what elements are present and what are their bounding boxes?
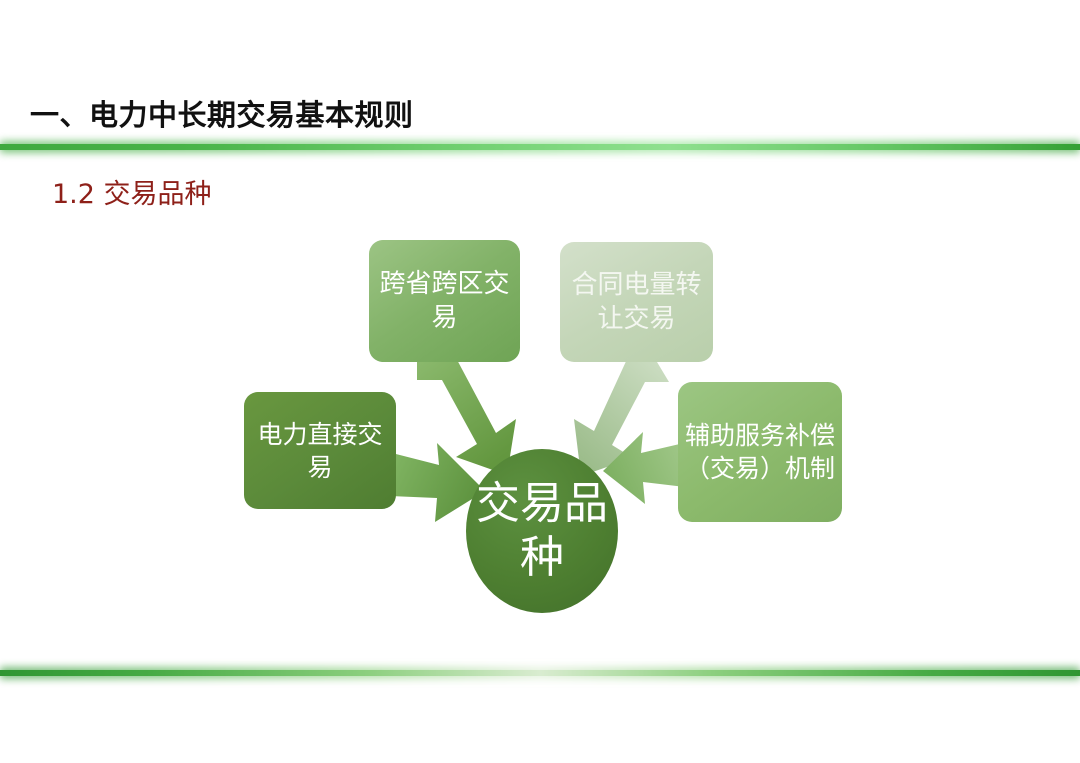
section-subtitle: 1.2 交易品种 <box>52 172 212 211</box>
node-center-label: 交易品种 <box>466 477 618 584</box>
node-center-trade-variety[interactable]: 交易品种 <box>466 449 618 613</box>
page-title: 一、电力中长期交易基本规则 <box>30 92 414 134</box>
divider-top-core <box>0 144 1080 150</box>
divider-top-glow <box>0 141 1080 153</box>
node-cross-region-label: 跨省跨区交易 <box>375 267 514 336</box>
trade-variety-diagram: 跨省跨区交易 合同电量转让交易 电力直接交易 辅助服务补偿（交易）机制 交易品种 <box>0 210 1080 630</box>
arrow-cross-region-to-center <box>417 356 516 475</box>
node-aux-service-label: 辅助服务补偿（交易）机制 <box>684 419 836 485</box>
divider-bottom <box>0 660 1080 686</box>
divider-bottom-glow <box>0 667 1080 679</box>
slide-canvas: 一、电力中长期交易基本规则 1.2 交易品种 <box>0 0 1080 763</box>
node-cross-region[interactable]: 跨省跨区交易 <box>369 240 520 362</box>
node-direct-trade-label: 电力直接交易 <box>250 418 390 484</box>
node-contract-transfer-label: 合同电量转让交易 <box>566 268 707 337</box>
divider-top <box>0 134 1080 160</box>
node-contract-transfer[interactable]: 合同电量转让交易 <box>560 242 713 362</box>
node-direct-trade[interactable]: 电力直接交易 <box>244 392 396 509</box>
divider-bottom-core <box>0 670 1080 676</box>
node-aux-service[interactable]: 辅助服务补偿（交易）机制 <box>678 382 842 522</box>
